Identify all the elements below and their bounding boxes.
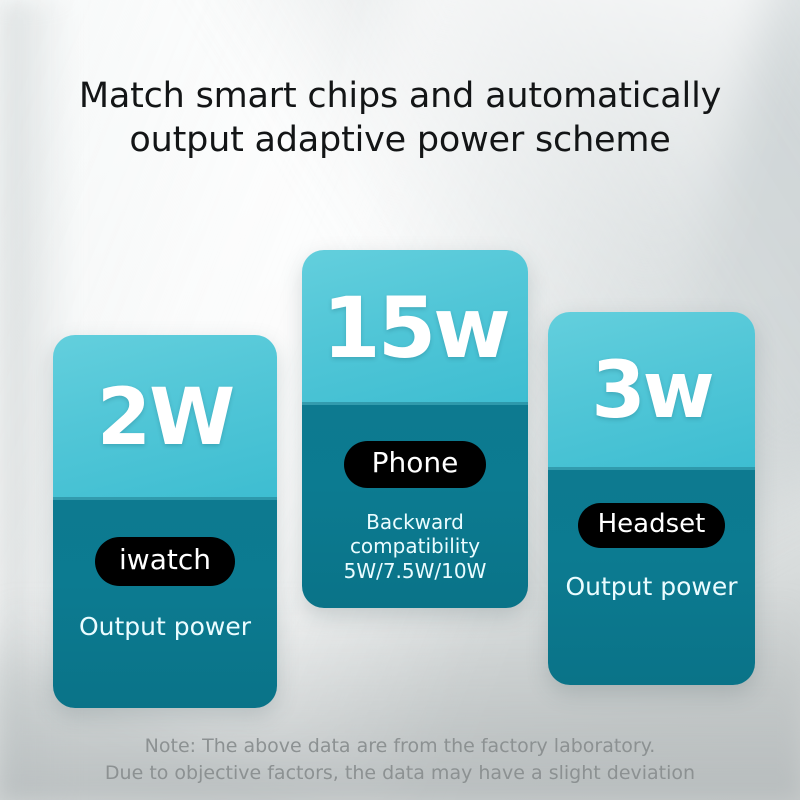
power-card-phone-top: 15w <box>302 250 528 405</box>
device-badge-headset: Headset <box>578 503 726 548</box>
power-card-iwatch-wattage: 2W <box>97 379 233 457</box>
power-card-phone: 15w Phone Backward compatibility 5W/7.5W… <box>302 250 528 608</box>
power-card-headset-bottom: Headset Output power <box>548 470 755 685</box>
power-card-headset-top: 3w <box>548 312 755 470</box>
poster-canvas: Match smart chips and automatically outp… <box>0 0 800 800</box>
power-card-headset-wattage: 3w <box>591 352 711 430</box>
power-card-iwatch-caption: Output power <box>79 612 251 643</box>
disclaimer-note: Note: The above data are from the factor… <box>0 733 800 787</box>
headline-text: Match smart chips and automatically outp… <box>0 74 800 162</box>
power-card-iwatch-top: 2W <box>53 335 277 500</box>
device-badge-phone: Phone <box>344 441 487 488</box>
power-card-phone-caption: Backward compatibility 5W/7.5W/10W <box>302 510 528 583</box>
device-badge-iwatch: iwatch <box>95 537 235 586</box>
power-card-iwatch-bottom: iwatch Output power <box>53 500 277 708</box>
power-card-phone-wattage: 15w <box>322 286 508 370</box>
power-card-phone-bottom: Phone Backward compatibility 5W/7.5W/10W <box>302 405 528 608</box>
power-card-headset-caption: Output power <box>565 572 737 603</box>
power-card-iwatch: 2W iwatch Output power <box>53 335 277 708</box>
power-card-headset: 3w Headset Output power <box>548 312 755 685</box>
